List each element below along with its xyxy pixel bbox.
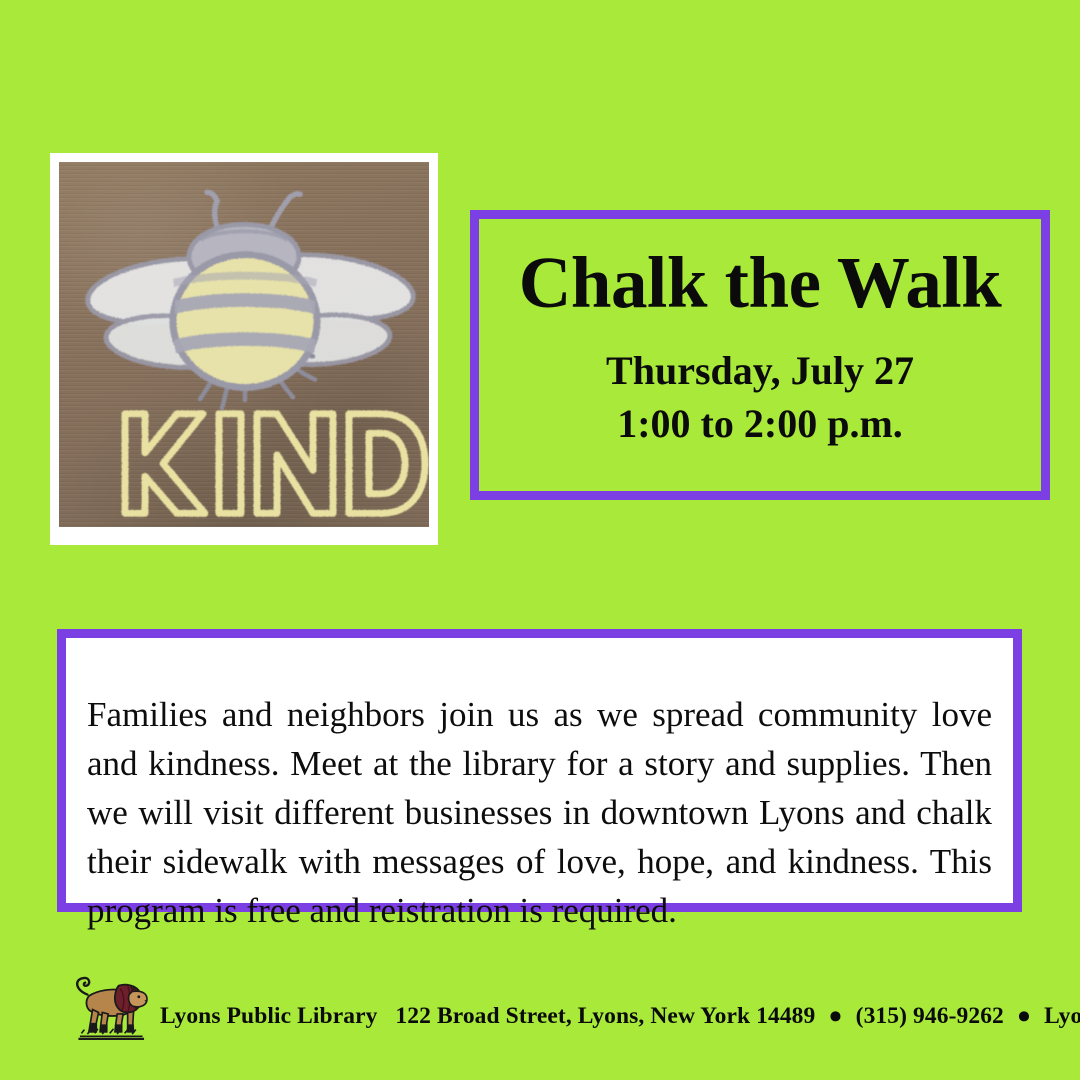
kind-chalk-text: [125, 414, 425, 514]
footer-library-name: Lyons Public Library: [160, 1003, 377, 1029]
footer-website[interactable]: LyonsPublicLibrary.org: [1044, 1003, 1080, 1029]
footer-separator-2: ●: [1010, 1003, 1038, 1029]
chalk-bee-photo: [59, 162, 429, 527]
event-description-text: Families and neighbors join us as we spr…: [87, 690, 992, 935]
page-title: Chalk the Walk: [519, 245, 1002, 321]
event-title-panel: Chalk the Walk Thursday, July 27 1:00 to…: [470, 210, 1050, 500]
chalk-bee-photo-frame: [50, 153, 438, 545]
footer-contact-line: Lyons Public Library 122 Broad Street, L…: [160, 1003, 1080, 1041]
footer-address: 122 Broad Street, Lyons, New York 14489: [395, 1003, 815, 1029]
footer-separator-1: ●: [821, 1003, 849, 1029]
event-time: 1:00 to 2:00 p.m.: [617, 398, 903, 451]
bee-chalk-illustration: [59, 162, 429, 527]
bee-abdomen: [173, 255, 317, 388]
footer-phone: (315) 946-9262: [856, 1003, 1004, 1029]
event-description-panel: Families and neighbors join us as we spr…: [57, 629, 1022, 912]
lion-logo-icon: [68, 969, 150, 1041]
event-description-inner: Families and neighbors join us as we spr…: [66, 638, 1013, 903]
footer: Lyons Public Library 122 Broad Street, L…: [68, 966, 1028, 1041]
event-date: Thursday, July 27: [606, 345, 914, 398]
